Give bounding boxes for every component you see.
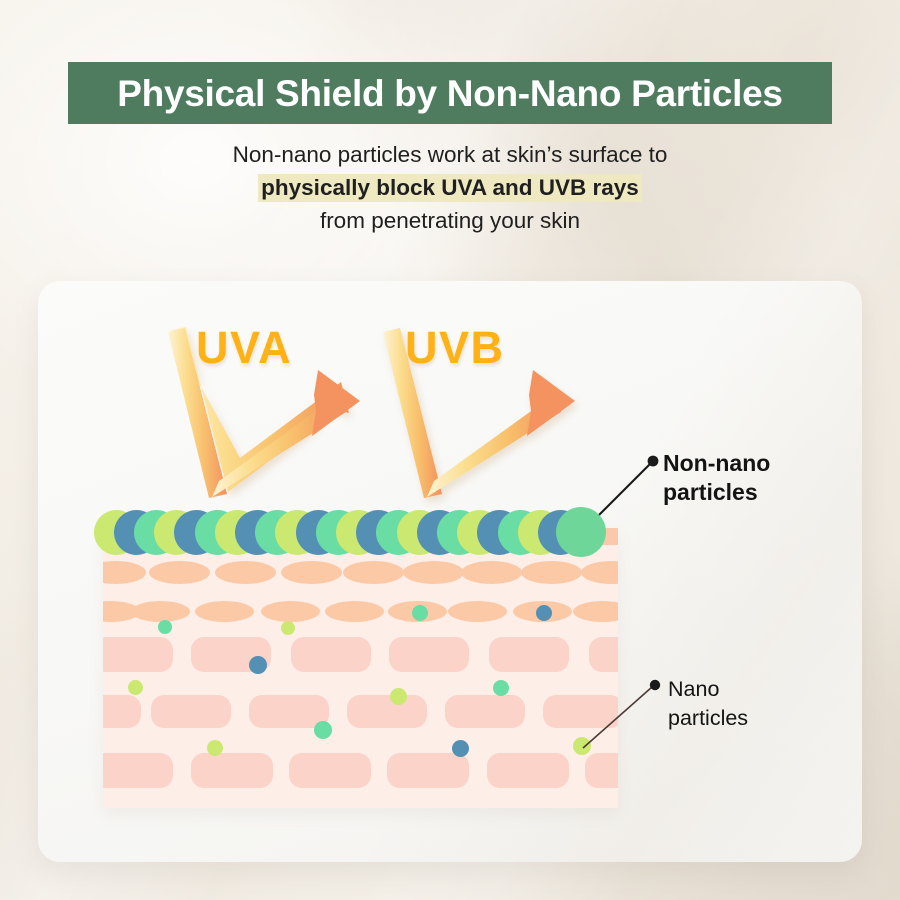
infographic-canvas: Physical Shield by Non-Nano Particles No… [0,0,900,900]
callout-non-nano: Non-nano particles [663,449,770,507]
callout-non-nano-line-1: Non-nano [663,449,770,478]
callout-nano-line-1: Nano [668,675,748,704]
non-nano-particle [556,507,606,557]
callout-nano: Nano particles [668,675,748,733]
callout-non-nano-line-2: particles [663,478,770,507]
callout-nano-line-2: particles [668,704,748,733]
